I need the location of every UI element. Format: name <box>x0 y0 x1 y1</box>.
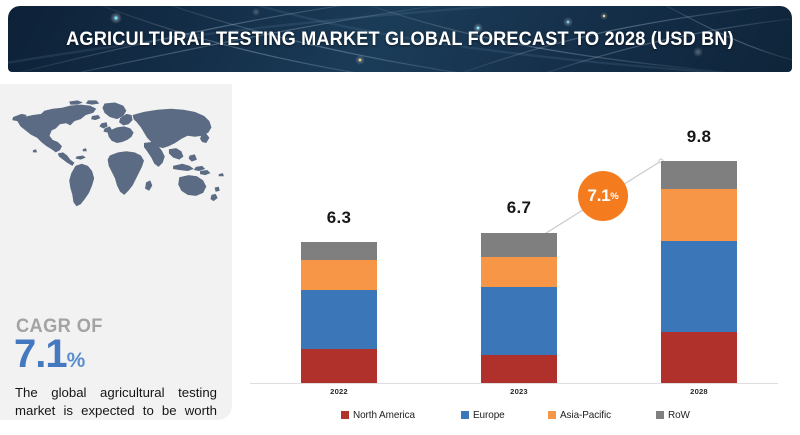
bar-segment-north-america-2022 <box>301 349 377 383</box>
legend-item-europe[interactable]: Europe <box>461 409 506 421</box>
legend-label-row: RoW <box>668 409 690 421</box>
header-banner: AGRICULTURAL TESTING MARKET GLOBAL FOREC… <box>8 6 792 72</box>
left-summary-panel: CAGR OF 7.1% The global agricultural tes… <box>0 84 232 420</box>
bar-segment-asia-pacific-2028 <box>661 189 737 241</box>
bar-segment-row-2028 <box>661 161 737 189</box>
cagr-number: 7.1 <box>14 332 67 376</box>
bar-2028[interactable] <box>661 161 737 383</box>
legend-item-north-america[interactable]: North America <box>341 409 418 421</box>
cagr-badge-value: 7.1 <box>588 186 611 206</box>
bar-2022[interactable] <box>301 242 377 383</box>
legend-swatch-europe <box>461 411 469 419</box>
infographic-root: AGRICULTURAL TESTING MARKET GLOBAL FOREC… <box>0 0 800 435</box>
bar-total-label-2023: 6.7 <box>481 198 557 218</box>
legend-item-asia-pacific[interactable]: Asia-Pacific <box>548 409 614 421</box>
legend-label-europe: Europe <box>473 409 505 421</box>
legend-label-asia-pacific: Asia-Pacific <box>560 409 611 421</box>
legend-swatch-asia-pacific <box>548 411 556 419</box>
x-axis-line <box>250 383 778 384</box>
legend-swatch-row <box>656 411 664 419</box>
bar-segment-row-2022 <box>301 242 377 260</box>
cagr-value: 7.1% <box>14 334 85 374</box>
legend-item-row[interactable]: RoW <box>656 409 691 421</box>
bar-total-label-2022: 6.3 <box>301 208 377 228</box>
legend-swatch-north-america <box>341 411 349 419</box>
legend-label-north-america: North America <box>353 409 415 421</box>
cagr-badge-percent: % <box>610 191 618 202</box>
bar-segment-row-2023 <box>481 233 557 257</box>
bar-segment-asia-pacific-2022 <box>301 260 377 290</box>
bar-segment-north-america-2023 <box>481 355 557 383</box>
x-tick-2022: 2022 <box>279 387 399 396</box>
cagr-badge[interactable]: 7.1% <box>578 171 628 221</box>
cagr-percent-symbol: % <box>67 349 86 372</box>
plot-area: 6.3 2022 6.7 2023 9.8 2028 7.1% <box>232 84 800 435</box>
x-tick-2023: 2023 <box>459 387 579 396</box>
bar-segment-europe-2023 <box>481 287 557 355</box>
page-title: AGRICULTURAL TESTING MARKET GLOBAL FOREC… <box>35 6 764 72</box>
chart-legend: North America Europe Asia-Pacific RoW <box>232 409 800 421</box>
summary-description: The global agricultural testing market i… <box>15 384 217 420</box>
stacked-bar-chart: 6.3 2022 6.7 2023 9.8 2028 7.1% <box>232 84 800 435</box>
bar-total-label-2028: 9.8 <box>661 127 737 147</box>
bar-segment-north-america-2028 <box>661 332 737 383</box>
x-tick-2028: 2028 <box>639 387 759 396</box>
bar-segment-europe-2022 <box>301 290 377 349</box>
bar-2023[interactable] <box>481 233 557 383</box>
bar-segment-asia-pacific-2023 <box>481 257 557 287</box>
world-map-icon <box>8 98 226 216</box>
bar-segment-europe-2028 <box>661 241 737 332</box>
